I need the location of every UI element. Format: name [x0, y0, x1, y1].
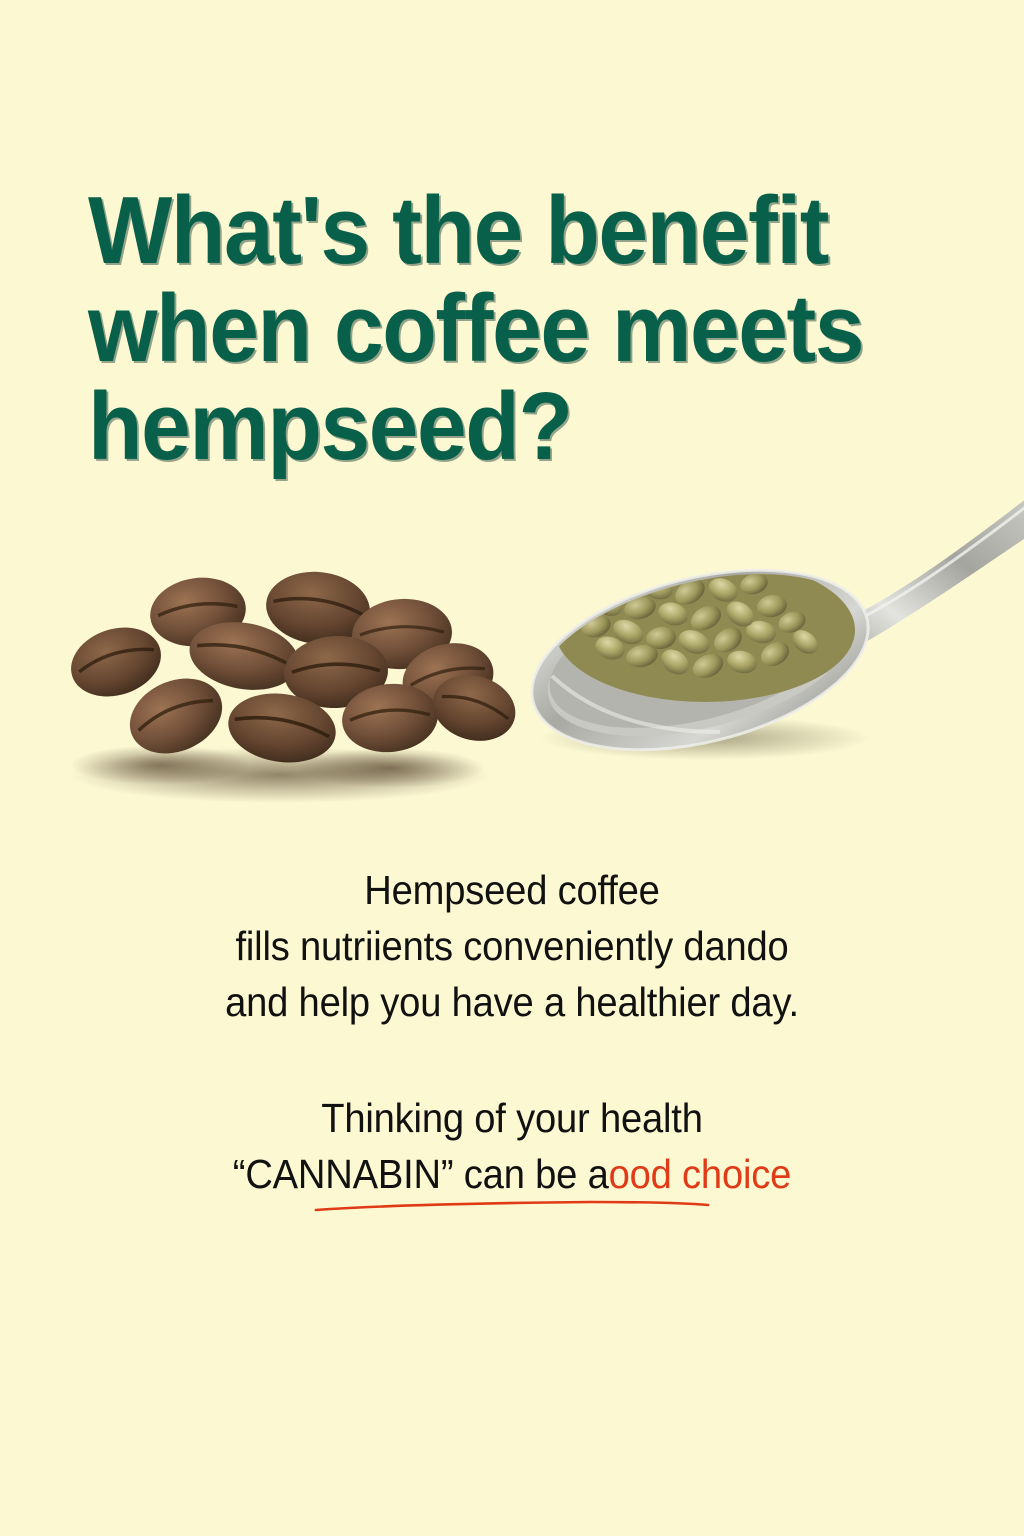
tagline-row: “CANNABIN” can be aood choice: [36, 1146, 988, 1202]
copy-line-2: fills nutriients conveniently dando: [36, 918, 988, 974]
page-title: What's the benefit when coffee meets hem…: [88, 182, 968, 476]
product-imagery: [0, 480, 1024, 830]
tagline-black-text: “CANNABIN” can be a: [233, 1151, 609, 1197]
tagline-wrap: “CANNABIN” can be aood choice: [233, 1146, 791, 1202]
hempseed-spoon-image: [500, 480, 1024, 780]
accent-underline: [312, 1199, 712, 1215]
poster-canvas: What's the benefit when coffee meets hem…: [0, 0, 1024, 1536]
copy-line-3: and help you have a healthier day.: [36, 974, 988, 1030]
copy-line-4: Thinking of your health: [36, 1090, 988, 1146]
copy-spacer: [0, 1030, 1024, 1090]
coffee-beans-image: [30, 550, 530, 810]
body-copy-block: Hempseed coffee fills nutriients conveni…: [0, 862, 1024, 1202]
headline-line-3: hempseed?: [88, 378, 906, 476]
copy-line-1: Hempseed coffee: [36, 862, 988, 918]
headline-line-1: What's the benefit: [88, 182, 906, 280]
headline-line-2: when coffee meets: [88, 280, 906, 378]
tagline-accent-text: ood choice: [609, 1151, 792, 1197]
